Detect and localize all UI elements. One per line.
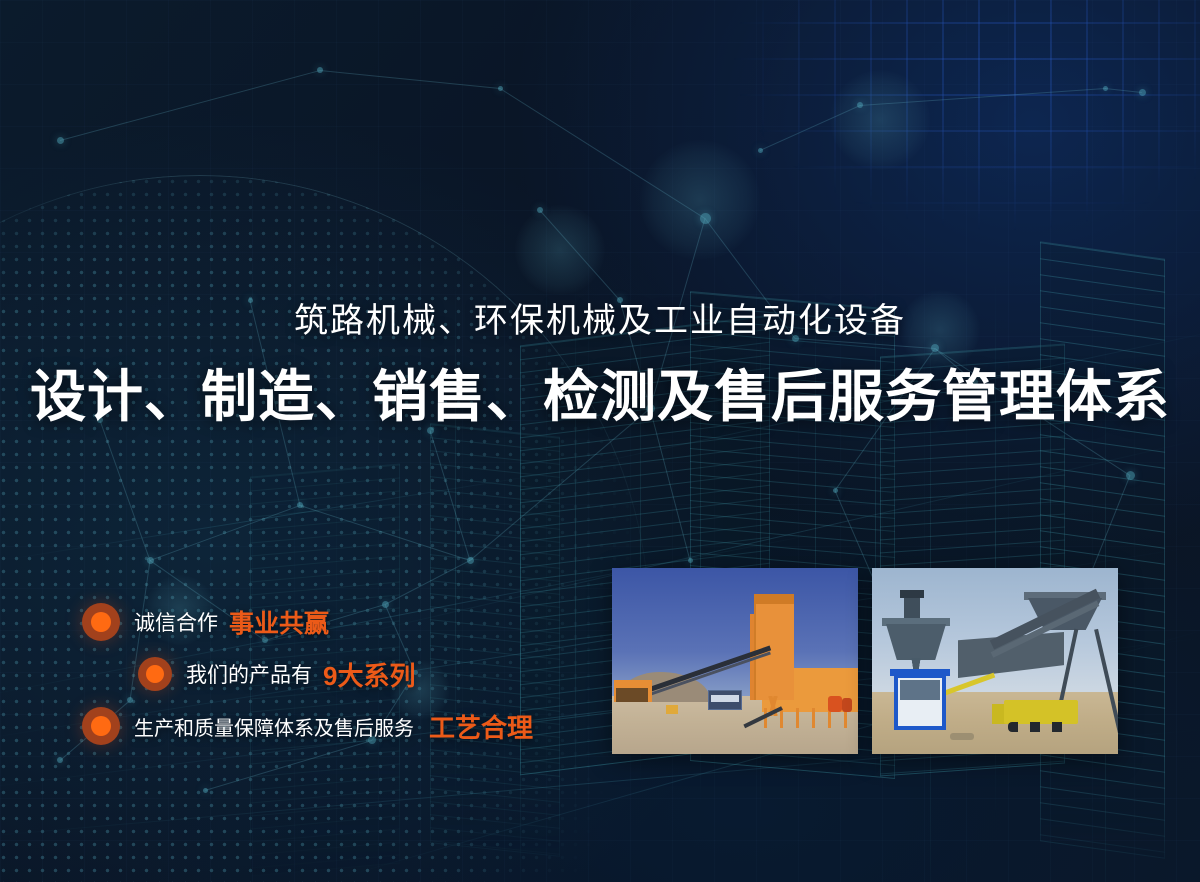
banner-subtitle: 筑路机械、环保机械及工业自动化设备 [0, 300, 1200, 343]
promo-banner: 筑路机械、环保机械及工业自动化设备 设计、制造、销售、检测及售后服务管理体系 诚… [0, 0, 1200, 882]
photo-gallery [612, 568, 1118, 754]
feature-highlight: 事业共赢 [229, 604, 329, 640]
feature-label: 诚信合作 [134, 607, 218, 637]
banner-content: 筑路机械、环保机械及工业自动化设备 设计、制造、销售、检测及售后服务管理体系 诚… [0, 0, 1200, 882]
concrete-batching-plant-photo [612, 568, 858, 754]
banner-headline: 设计、制造、销售、检测及售后服务管理体系 [0, 362, 1200, 432]
feature-highlight: 9大系列 [323, 656, 415, 693]
bullet-dot-icon [138, 657, 172, 691]
mobile-batching-plant-photo [872, 568, 1118, 754]
bullet-dot-icon [82, 707, 120, 745]
feature-item-3: 生产和质量保障体系及售后服务 工艺合理 [0, 700, 600, 752]
feature-list: 诚信合作 事业共赢 我们的产品有 9大系列 生产和质量保障体系及售后服务 工艺合… [0, 596, 600, 752]
bullet-dot-icon [82, 603, 120, 641]
feature-highlight: 工艺合理 [429, 708, 533, 745]
feature-label: 生产和质量保障体系及售后服务 [134, 712, 414, 741]
feature-label: 我们的产品有 [186, 659, 312, 689]
feature-item-1: 诚信合作 事业共赢 [0, 596, 600, 648]
feature-item-2: 我们的产品有 9大系列 [0, 648, 600, 700]
